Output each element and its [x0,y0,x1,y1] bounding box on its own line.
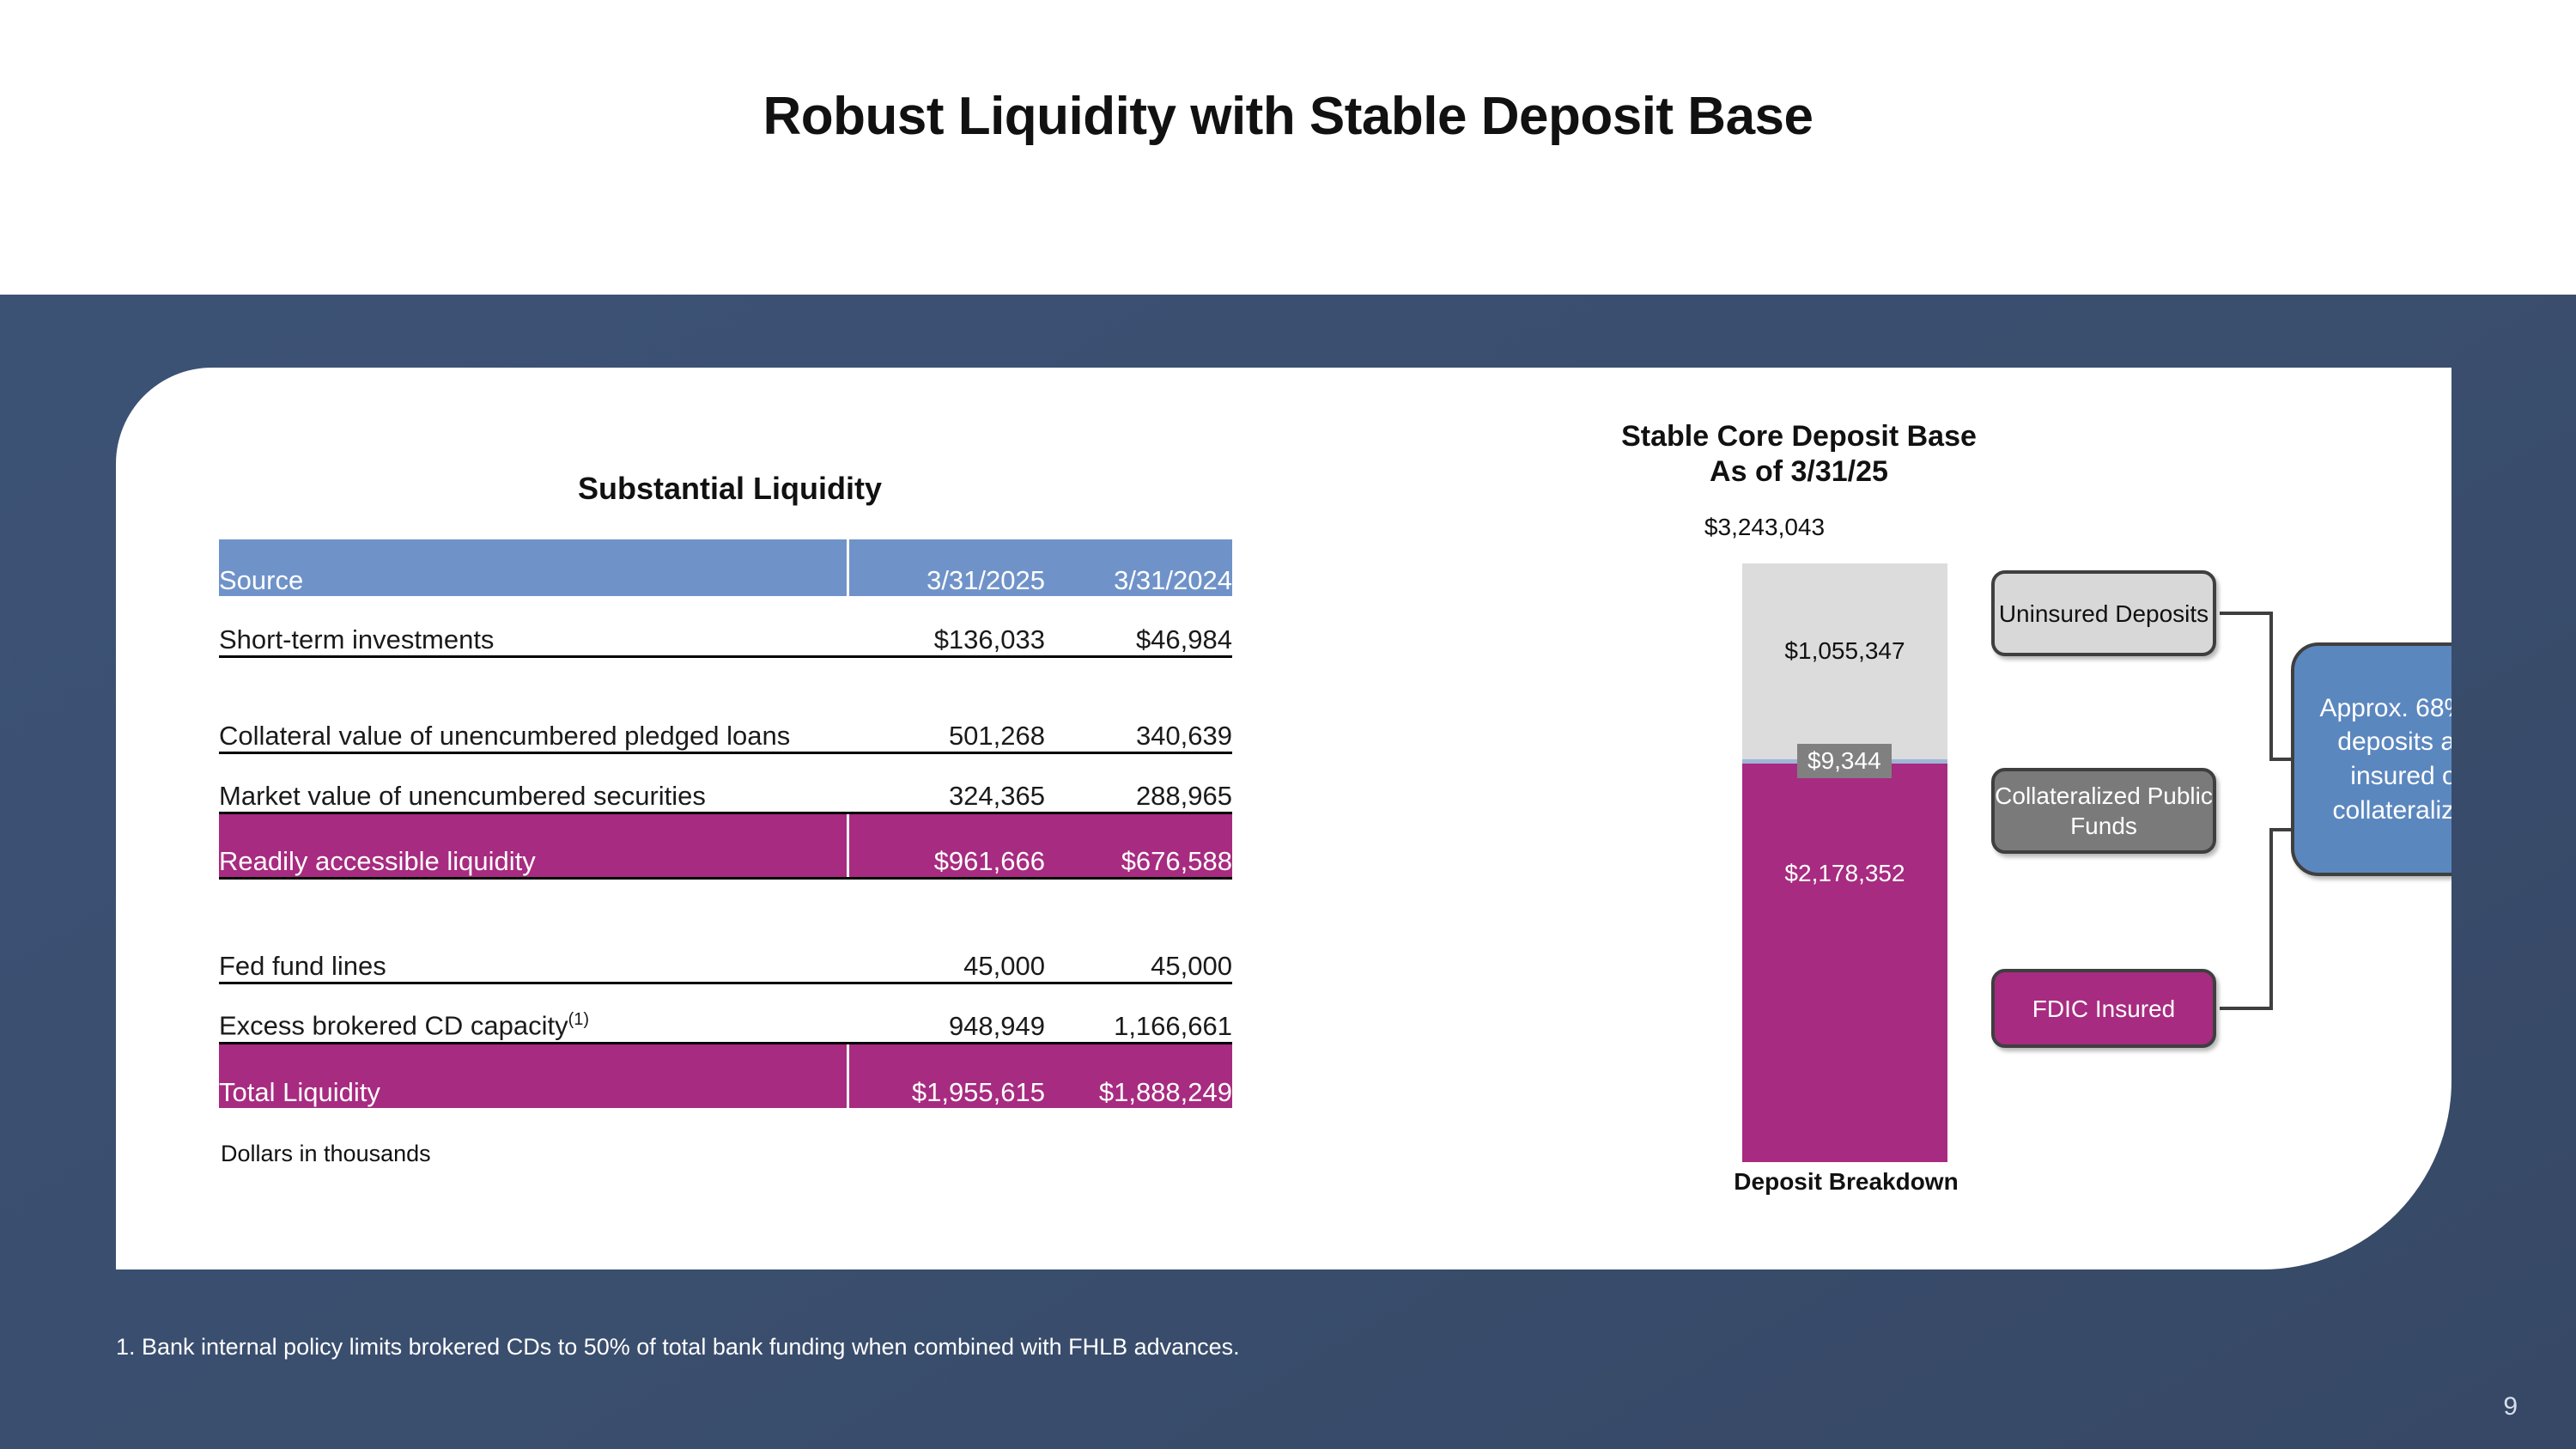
chart-heading: Stable Core Deposit Base As of 3/31/25 [1498,419,2099,490]
bar-axis-label: Deposit Breakdown [1704,1168,1988,1196]
row-value-2024: 340,639 [1045,656,1232,752]
bar-label-uninsured: $1,055,347 [1742,637,1947,665]
table-row-subtotal: Readily accessible liquidity $961,666 $6… [219,813,1232,878]
callout-approx-label: Approx. 68% of deposits are insured or c… [2308,691,2451,827]
legend-box-uninsured-deposits[interactable]: Uninsured Deposits [1991,570,2216,656]
row-value-2025: 501,268 [848,656,1045,752]
table-row-total: Total Liquidity $1,955,615 $1,888,249 [219,1043,1232,1108]
stacked-bar-chart: $1,055,347 $9,344 $2,178,352 [1742,563,1947,1162]
legend-box-fdic-insured[interactable]: FDIC Insured [1991,969,2216,1048]
column-header-2025: 3/31/2025 [848,539,1045,596]
page-title: Robust Liquidity with Stable Deposit Bas… [0,86,2576,147]
slide: Robust Liquidity with Stable Deposit Bas… [0,0,2576,1449]
column-header-2024: 3/31/2024 [1045,539,1232,596]
row-value-2024: $676,588 [1045,813,1232,878]
row-label: Excess brokered CD capacity(1) [219,983,848,1043]
row-label-text: Excess brokered CD capacity [219,1011,568,1041]
table-row: Fed fund lines 45,000 45,000 [219,922,1232,983]
chart-heading-line1: Stable Core Deposit Base [1498,419,2099,454]
legend-box-collateralized-label: Collateralized Public Funds [1995,781,2213,841]
table-header-row: Source 3/31/2025 3/31/2024 [219,539,1232,596]
table-spacer-row [219,878,1232,922]
row-label: Short-term investments [219,596,848,656]
table-row: Short-term investments $136,033 $46,984 [219,596,1232,656]
substantial-liquidity-heading: Substantial Liquidity [116,471,1344,507]
bar-label-collateralized: $9,344 [1797,744,1892,778]
left-panel: Substantial Liquidity Source 3/31/2025 3… [116,368,1404,1269]
column-header-source: Source [219,539,848,596]
legend-box-uninsured-label: Uninsured Deposits [1999,599,2208,629]
footnote-marker: (1) [568,1010,589,1029]
row-value-2025: $136,033 [848,596,1045,656]
row-value-2025: 948,949 [848,983,1045,1043]
row-value-2024: 1,166,661 [1045,983,1232,1043]
footnote: 1. Bank internal policy limits brokered … [116,1334,1240,1361]
row-label: Market value of unencumbered securities [219,752,848,813]
row-value-2025: 45,000 [848,922,1045,983]
row-label: Collateral value of unencumbered pledged… [219,656,848,752]
table-row: Collateral value of unencumbered pledged… [219,656,1232,752]
legend-box-collateralized-public-funds[interactable]: Collateralized Public Funds [1991,768,2216,854]
row-label: Total Liquidity [219,1043,848,1108]
bar-segment-fdic-insured [1742,764,1947,1162]
row-value-2024: $46,984 [1045,596,1232,656]
header-band: Robust Liquidity with Stable Deposit Bas… [0,0,2576,295]
bar-label-fdic: $2,178,352 [1742,860,1947,887]
right-panel: Stable Core Deposit Base As of 3/31/25 $… [1404,368,2451,1269]
chart-heading-line2: As of 3/31/25 [1498,454,2099,490]
callout-box-approx-insured[interactable]: Approx. 68% of deposits are insured or c… [2291,642,2451,876]
row-value-2024: 45,000 [1045,922,1232,983]
table-row: Excess brokered CD capacity(1) 948,949 1… [219,983,1232,1043]
page-number: 9 [2503,1392,2518,1422]
bar-total-label: $3,243,043 [1636,514,1893,541]
units-note: Dollars in thousands [221,1141,431,1167]
row-value-2024: $1,888,249 [1045,1043,1232,1108]
row-value-2025: $1,955,615 [848,1043,1045,1108]
row-value-2025: $961,666 [848,813,1045,878]
row-value-2025: 324,365 [848,752,1045,813]
row-value-2024: 288,965 [1045,752,1232,813]
table-row: Market value of unencumbered securities … [219,752,1232,813]
row-label: Readily accessible liquidity [219,813,848,878]
liquidity-table: Source 3/31/2025 3/31/2024 Short-term in… [219,539,1232,1108]
row-label: Fed fund lines [219,922,848,983]
content-card: Substantial Liquidity Source 3/31/2025 3… [116,368,2451,1269]
legend-box-fdic-label: FDIC Insured [2032,994,2176,1024]
